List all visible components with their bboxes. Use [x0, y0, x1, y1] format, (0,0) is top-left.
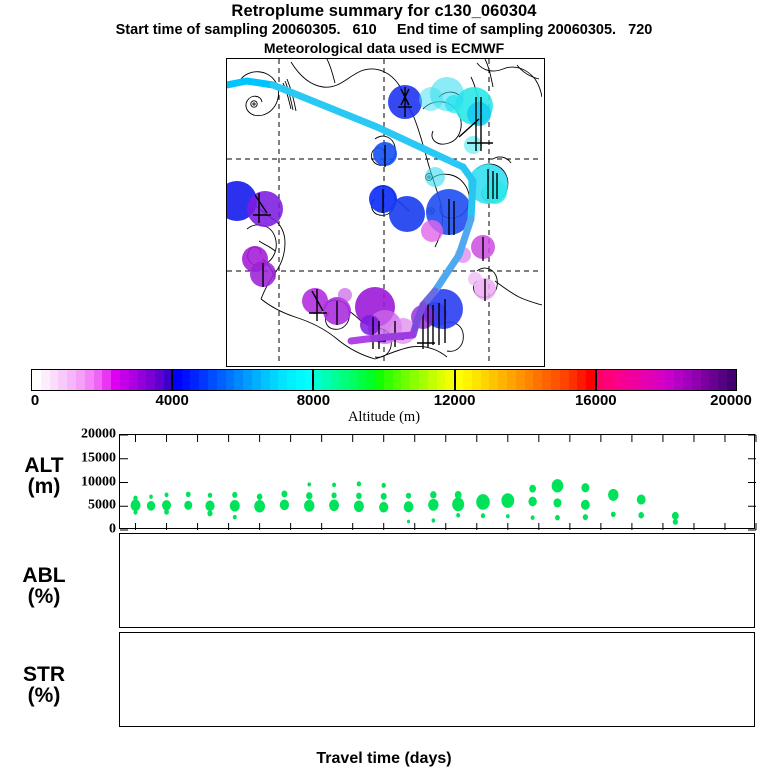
- colorbar-band-45: [428, 370, 437, 390]
- colorbar-band-70: [648, 370, 657, 390]
- colorbar-separator: [171, 369, 173, 391]
- plume-bubble: [134, 510, 138, 515]
- colorbar-band-23: [234, 370, 243, 390]
- colorbar-band-1: [41, 370, 50, 390]
- plume-bubble: [581, 483, 589, 492]
- colorbar-band-25: [252, 370, 261, 390]
- colorbar-band-17: [182, 370, 191, 390]
- plume-bubble: [257, 494, 263, 500]
- colorbar-band-28: [278, 370, 287, 390]
- plume-bubble: [581, 500, 590, 510]
- colorbar-band-61: [569, 370, 578, 390]
- colorbar-separator: [312, 369, 314, 391]
- retroplume-map[interactable]: [226, 58, 545, 367]
- colorbar-band-0: [32, 370, 41, 390]
- colorbar-axis-title: Altitude (m): [0, 409, 768, 426]
- colorbar-band-12: [138, 370, 147, 390]
- plume-bubble: [147, 501, 155, 511]
- colorbar-band-27: [270, 370, 279, 390]
- plume-bubble: [432, 518, 436, 522]
- colorbar-band-6: [85, 370, 94, 390]
- colorbar-band-77: [709, 370, 718, 390]
- plume-bubble: [184, 501, 192, 510]
- abl-panel[interactable]: [119, 533, 755, 628]
- colorbar-band-20: [208, 370, 217, 390]
- colorbar-band-42: [401, 370, 410, 390]
- plume-bubble: [329, 500, 339, 512]
- plume-bubble: [455, 491, 462, 499]
- alt-ytick-15000: 15000: [81, 450, 116, 466]
- plume-bubble: [356, 493, 362, 499]
- colorbar-band-54: [507, 370, 516, 390]
- colorbar-band-7: [94, 370, 103, 390]
- alt-label-line2: (m): [8, 476, 80, 497]
- plume-bubble: [528, 497, 536, 507]
- altitude-colorbar: [31, 369, 737, 391]
- plume-bubble: [531, 515, 535, 520]
- abl-row-label: ABL (%): [8, 565, 80, 607]
- colorbar-band-76: [701, 370, 710, 390]
- plume-bubble: [506, 514, 510, 518]
- colorbar-band-36: [349, 370, 358, 390]
- colorbar-band-33: [322, 370, 331, 390]
- plume-bubble: [381, 493, 387, 500]
- colorbar-band-11: [129, 370, 138, 390]
- colorbar-band-62: [577, 370, 586, 390]
- plume-bubble: [611, 512, 616, 518]
- colorbar-band-3: [58, 370, 67, 390]
- x-tick-labels: [0, 731, 768, 749]
- colorbar-band-58: [542, 370, 551, 390]
- plume-bubble: [637, 495, 646, 505]
- colorbar-band-8: [102, 370, 111, 390]
- colorbar-band-35: [340, 370, 349, 390]
- colorbar-band-72: [665, 370, 674, 390]
- colorbar-band-13: [146, 370, 155, 390]
- colorbar-band-59: [551, 370, 560, 390]
- colorbar-tick-4000: 4000: [156, 392, 189, 409]
- plume-bubble: [207, 510, 212, 516]
- colorbar-band-51: [481, 370, 490, 390]
- plume-bubble: [165, 493, 169, 498]
- plume-bubble: [481, 513, 485, 518]
- alt-ytick-0: 0: [109, 522, 116, 538]
- plume-bubble: [281, 490, 287, 497]
- str-label-line1: STR: [8, 664, 80, 685]
- plume-bubble: [456, 513, 460, 518]
- colorbar-band-30: [296, 370, 305, 390]
- colorbar-tick-0: 0: [31, 392, 39, 409]
- colorbar-band-44: [419, 370, 428, 390]
- plume-bubble: [553, 498, 561, 507]
- plume-bubble: [205, 500, 214, 511]
- abl-plot: [119, 533, 757, 630]
- colorbar-band-26: [261, 370, 270, 390]
- plume-bubble: [529, 485, 536, 493]
- colorbar-separator: [454, 369, 456, 391]
- colorbar-band-52: [489, 370, 498, 390]
- plume-bubble: [354, 501, 364, 513]
- colorbar-band-69: [639, 370, 648, 390]
- colorbar-band-16: [173, 370, 182, 390]
- colorbar-band-37: [357, 370, 366, 390]
- plume-bubble: [164, 509, 169, 515]
- colorbar-band-73: [674, 370, 683, 390]
- title-block: Retroplume summary for c130_060304 Start…: [0, 2, 768, 57]
- plume-bubble: [307, 482, 311, 486]
- str-panel[interactable]: [119, 632, 755, 727]
- plume-bubble: [407, 520, 410, 524]
- plume-bubble: [233, 515, 237, 520]
- colorbar-band-39: [375, 370, 384, 390]
- alt-ytick-5000: 5000: [88, 498, 116, 514]
- colorbar-band-67: [621, 370, 630, 390]
- sampling-times: Start time of sampling 20060305. 610 End…: [0, 21, 768, 40]
- plume-bubble: [404, 501, 414, 512]
- colorbar-band-38: [366, 370, 375, 390]
- colorbar-band-79: [727, 370, 736, 390]
- colorbar-band-46: [437, 370, 446, 390]
- colorbar-band-34: [331, 370, 340, 390]
- plume-bubble: [638, 512, 644, 518]
- colorbar-gradient: [31, 369, 737, 391]
- plume-bubble: [208, 493, 212, 498]
- plume-blobs: [227, 77, 508, 344]
- colorbar-tick-16000: 16000: [575, 392, 617, 409]
- plume-bubble: [306, 492, 312, 499]
- colorbar-band-14: [155, 370, 164, 390]
- colorbar-band-18: [190, 370, 199, 390]
- plume-bubble: [131, 500, 141, 512]
- plume-bubble: [379, 502, 388, 513]
- str-plot: [119, 632, 757, 729]
- plume-bubble: [254, 500, 265, 512]
- plume-bubble: [186, 492, 191, 498]
- plume-bubble: [501, 493, 514, 508]
- colorbar-band-19: [199, 370, 208, 390]
- plume-bubble: [331, 492, 336, 498]
- plume-bubble: [428, 499, 438, 511]
- colorbar-band-9: [111, 370, 120, 390]
- plume-bubble: [280, 500, 289, 511]
- plume-bubble: [230, 500, 240, 512]
- plume-bubble: [430, 491, 436, 498]
- x-axis-title: Travel time (days): [0, 750, 768, 768]
- plume-bubble: [476, 494, 490, 510]
- colorbar-band-50: [472, 370, 481, 390]
- colorbar-band-78: [718, 370, 727, 390]
- plume-bubble: [552, 479, 564, 492]
- alt-plot: [119, 434, 757, 531]
- colorbar-band-75: [692, 370, 701, 390]
- alt-ytick-20000: 20000: [81, 427, 116, 443]
- colorbar-band-68: [630, 370, 639, 390]
- alt-panel[interactable]: 05000100001500020000: [119, 434, 755, 529]
- plume-bubble: [149, 495, 153, 499]
- colorbar-band-24: [243, 370, 252, 390]
- abl-label-line2: (%): [8, 586, 80, 607]
- colorbar-band-57: [533, 370, 542, 390]
- colorbar-band-22: [226, 370, 235, 390]
- plume-bubble: [162, 500, 171, 510]
- alt-row-label: ALT (m): [8, 455, 80, 497]
- plume-bubble: [672, 512, 679, 520]
- colorbar-band-2: [50, 370, 59, 390]
- colorbar-band-10: [120, 370, 129, 390]
- colorbar-band-63: [586, 370, 595, 390]
- page-title: Retroplume summary for c130_060304: [0, 2, 768, 21]
- colorbar-band-65: [604, 370, 613, 390]
- str-label-line2: (%): [8, 685, 80, 706]
- colorbar-band-66: [613, 370, 622, 390]
- plume-bubble: [406, 493, 411, 499]
- colorbar-tick-8000: 8000: [297, 392, 330, 409]
- colorbar-band-55: [516, 370, 525, 390]
- alt-label-line1: ALT: [8, 455, 80, 476]
- plume-bubble: [382, 483, 386, 488]
- colorbar-band-4: [67, 370, 76, 390]
- plume-bubble: [332, 483, 336, 488]
- colorbar-band-21: [217, 370, 226, 390]
- plume-bubble: [673, 519, 678, 525]
- colorbar-tick-20000: 20000: [710, 392, 752, 409]
- colorbar-band-40: [384, 370, 393, 390]
- colorbar-band-71: [657, 370, 666, 390]
- str-row-label: STR (%): [8, 664, 80, 706]
- plume-bubble: [583, 514, 588, 520]
- colorbar-band-74: [683, 370, 692, 390]
- colorbar-band-60: [560, 370, 569, 390]
- alt-ytick-10000: 10000: [81, 474, 116, 490]
- colorbar-band-53: [498, 370, 507, 390]
- map-canvas: [227, 59, 542, 364]
- plume-bubble: [232, 492, 237, 498]
- colorbar-band-49: [463, 370, 472, 390]
- colorbar-band-32: [314, 370, 323, 390]
- plume-bubble: [357, 481, 361, 486]
- colorbar-band-41: [393, 370, 402, 390]
- abl-label-line1: ABL: [8, 565, 80, 586]
- plume-bubble: [555, 515, 560, 521]
- colorbar-separator: [595, 369, 597, 391]
- colorbar-band-29: [287, 370, 296, 390]
- plume-bubble: [608, 489, 618, 501]
- colorbar-tick-12000: 12000: [434, 392, 476, 409]
- colorbar-band-43: [410, 370, 419, 390]
- colorbar-band-56: [525, 370, 534, 390]
- plume-bubble: [452, 497, 464, 511]
- plume-bubble: [304, 500, 314, 512]
- meteorology-source: Meteorological data used is ECMWF: [0, 40, 768, 57]
- colorbar-band-5: [76, 370, 85, 390]
- plume-bubble: [133, 496, 137, 501]
